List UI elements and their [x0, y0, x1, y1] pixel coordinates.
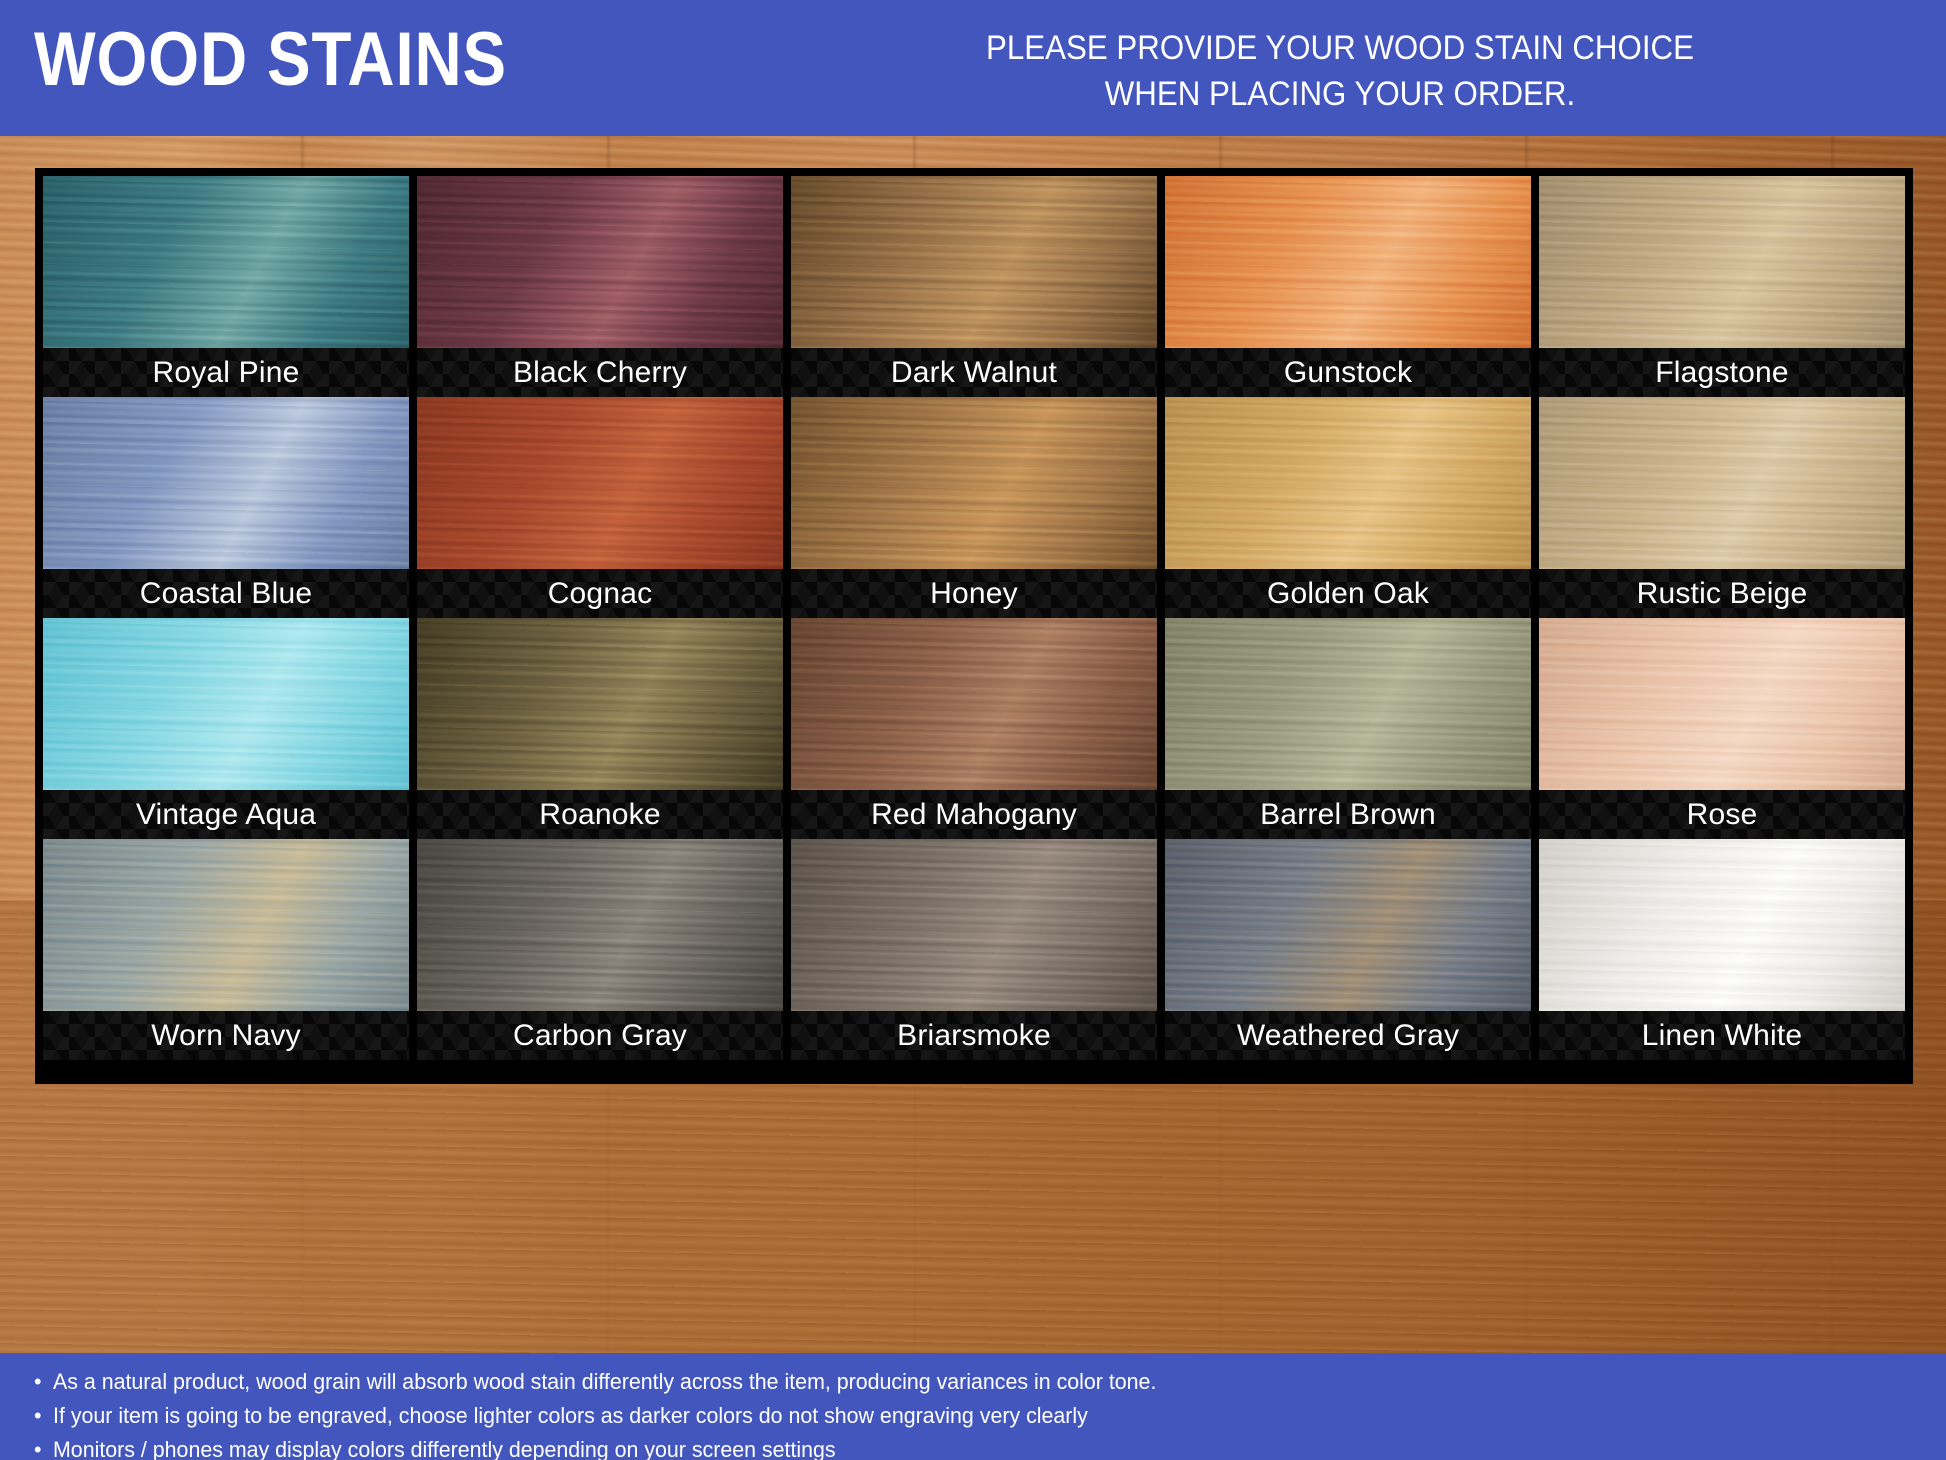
swatch-cell[interactable]: Linen White [1539, 839, 1905, 1060]
swatch-label-band: Weathered Gray [1165, 1011, 1531, 1060]
swatch-label: Coastal Blue [140, 577, 313, 611]
swatch-label: Weathered Gray [1237, 1019, 1459, 1053]
swatch-cell[interactable]: Carbon Gray [417, 839, 783, 1060]
swatch-label-band: Cognac [417, 569, 783, 618]
swatch-label: Dark Walnut [891, 356, 1057, 390]
swatch-cell[interactable]: Cognac [417, 397, 783, 618]
swatch-color[interactable] [791, 839, 1157, 1011]
swatch-label-band: Vintage Aqua [43, 790, 409, 839]
bullet-icon: • [34, 1433, 53, 1460]
swatch-label: Gunstock [1284, 356, 1412, 390]
swatch-label-band: Flagstone [1539, 348, 1905, 397]
swatch-label: Worn Navy [151, 1019, 301, 1053]
swatch-cell[interactable]: Rose [1539, 618, 1905, 839]
swatch-cell[interactable]: Golden Oak [1165, 397, 1531, 618]
swatch-color[interactable] [791, 618, 1157, 790]
swatch-color[interactable] [791, 176, 1157, 348]
swatch-row: Worn NavyCarbon GrayBriarsmokeWeathered … [43, 839, 1905, 1060]
footer-note-text: If your item is going to be engraved, ch… [53, 1403, 1088, 1428]
header-instruction-line-2: WHEN PLACING YOUR ORDER. [806, 72, 1873, 118]
swatch-label-band: Rose [1539, 790, 1905, 839]
swatch-label: Royal Pine [152, 356, 299, 390]
swatch-label: Roanoke [539, 798, 661, 832]
swatch-cell[interactable]: Red Mahogany [791, 618, 1157, 839]
swatch-label-band: Briarsmoke [791, 1011, 1157, 1060]
swatch-color[interactable] [417, 618, 783, 790]
footer-notes: •As a natural product, wood grain will a… [0, 1353, 1946, 1460]
swatch-color[interactable] [417, 397, 783, 569]
swatch-color[interactable] [1165, 618, 1531, 790]
swatch-label-band: Honey [791, 569, 1157, 618]
swatch-label: Golden Oak [1267, 577, 1429, 611]
wood-stain-chart: WOOD STAINS PLEASE PROVIDE YOUR WOOD STA… [0, 0, 1946, 1460]
swatch-color[interactable] [1539, 618, 1905, 790]
swatch-color[interactable] [1539, 176, 1905, 348]
bullet-icon: • [34, 1365, 53, 1399]
swatch-grid-panel: Royal PineBlack CherryDark WalnutGunstoc… [35, 168, 1913, 1084]
swatch-cell[interactable]: Coastal Blue [43, 397, 409, 618]
swatch-color[interactable] [1539, 839, 1905, 1011]
bullet-icon: • [34, 1399, 53, 1433]
swatch-label: Honey [930, 577, 1018, 611]
swatch-label: Vintage Aqua [136, 798, 316, 832]
swatch-color[interactable] [417, 176, 783, 348]
swatch-color[interactable] [43, 397, 409, 569]
swatch-label: Cognac [548, 577, 653, 611]
swatch-label: Rustic Beige [1637, 577, 1808, 611]
swatch-color[interactable] [417, 839, 783, 1011]
footer-note: •Monitors / phones may display colors di… [34, 1433, 1850, 1460]
swatch-label: Briarsmoke [897, 1019, 1051, 1053]
swatch-label: Red Mahogany [871, 798, 1077, 832]
swatch-cell[interactable]: Barrel Brown [1165, 618, 1531, 839]
swatch-color[interactable] [43, 839, 409, 1011]
swatch-cell[interactable]: Black Cherry [417, 176, 783, 397]
swatch-label: Rose [1687, 798, 1758, 832]
swatch-label-band: Royal Pine [43, 348, 409, 397]
footer-note-text: Monitors / phones may display colors dif… [53, 1437, 836, 1460]
swatch-label: Linen White [1642, 1019, 1803, 1053]
swatch-cell[interactable]: Royal Pine [43, 176, 409, 397]
swatch-label-band: Roanoke [417, 790, 783, 839]
swatch-cell[interactable]: Worn Navy [43, 839, 409, 1060]
swatch-color[interactable] [1165, 839, 1531, 1011]
swatch-label: Flagstone [1655, 356, 1789, 390]
header-instruction-line-1: PLEASE PROVIDE YOUR WOOD STAIN CHOICE [806, 26, 1873, 72]
swatch-label-band: Dark Walnut [791, 348, 1157, 397]
swatch-label-band: Golden Oak [1165, 569, 1531, 618]
swatch-label-band: Black Cherry [417, 348, 783, 397]
footer-note-text: As a natural product, wood grain will ab… [53, 1369, 1156, 1394]
page-title: WOOD STAINS [34, 22, 507, 98]
swatch-label-band: Gunstock [1165, 348, 1531, 397]
swatch-cell[interactable]: Honey [791, 397, 1157, 618]
footer-note: •As a natural product, wood grain will a… [34, 1365, 1850, 1399]
header-instruction: PLEASE PROVIDE YOUR WOOD STAIN CHOICE WH… [806, 26, 1873, 118]
swatch-label: Carbon Gray [513, 1019, 687, 1053]
swatch-row: Coastal BlueCognacHoneyGolden OakRustic … [43, 397, 1905, 618]
swatch-cell[interactable]: Gunstock [1165, 176, 1531, 397]
swatch-cell[interactable]: Weathered Gray [1165, 839, 1531, 1060]
swatch-cell[interactable]: Rustic Beige [1539, 397, 1905, 618]
swatch-cell[interactable]: Flagstone [1539, 176, 1905, 397]
swatch-label-band: Barrel Brown [1165, 790, 1531, 839]
swatch-color[interactable] [791, 397, 1157, 569]
swatch-cell[interactable]: Roanoke [417, 618, 783, 839]
swatch-label-band: Carbon Gray [417, 1011, 783, 1060]
swatch-cell[interactable]: Vintage Aqua [43, 618, 409, 839]
swatch-cell[interactable]: Briarsmoke [791, 839, 1157, 1060]
swatch-color[interactable] [43, 618, 409, 790]
swatch-color[interactable] [43, 176, 409, 348]
footer-note: •If your item is going to be engraved, c… [34, 1399, 1850, 1433]
swatch-row: Royal PineBlack CherryDark WalnutGunstoc… [43, 176, 1905, 397]
swatch-label: Barrel Brown [1260, 798, 1436, 832]
swatch-cell[interactable]: Dark Walnut [791, 176, 1157, 397]
swatch-label-band: Worn Navy [43, 1011, 409, 1060]
swatch-label-band: Red Mahogany [791, 790, 1157, 839]
swatch-row: Vintage AquaRoanokeRed MahoganyBarrel Br… [43, 618, 1905, 839]
swatch-label-band: Rustic Beige [1539, 569, 1905, 618]
swatch-label-band: Linen White [1539, 1011, 1905, 1060]
header-bar: WOOD STAINS PLEASE PROVIDE YOUR WOOD STA… [0, 0, 1946, 136]
swatch-label: Black Cherry [513, 356, 687, 390]
swatch-color[interactable] [1539, 397, 1905, 569]
swatch-color[interactable] [1165, 397, 1531, 569]
swatch-label-band: Coastal Blue [43, 569, 409, 618]
swatch-color[interactable] [1165, 176, 1531, 348]
